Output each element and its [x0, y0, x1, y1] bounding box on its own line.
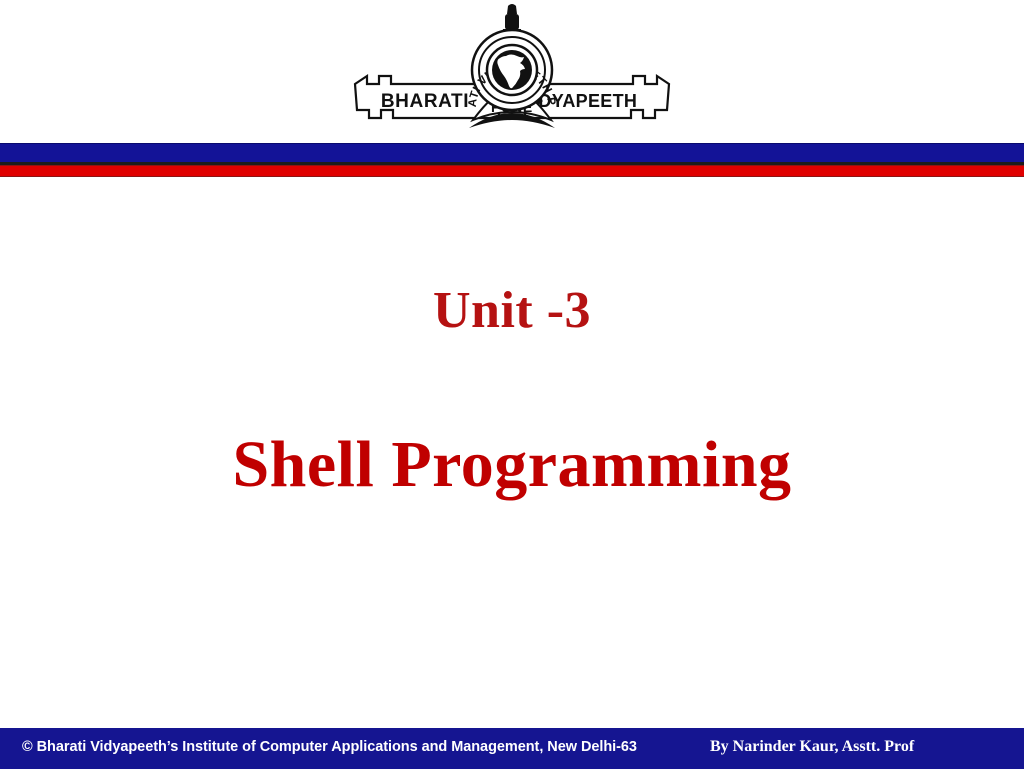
logo-icon: BHARATI VIDYAPEETH PUNE — [347, 2, 677, 136]
unit-title: Unit -3 — [0, 285, 1024, 337]
footer-author-text: By Narinder Kaur, Asstt. Prof — [710, 738, 914, 756]
slide-header: BHARATI VIDYAPEETH PUNE — [0, 0, 1024, 140]
india-map-icon — [487, 45, 537, 95]
main-title: Shell Programming — [0, 432, 1024, 498]
left-banner-text: BHARATI — [381, 91, 469, 112]
slide-body: Unit -3 Shell Programming — [0, 180, 1024, 720]
footer-copyright-text: © Bharati Vidyapeeth’s Institute of Comp… — [22, 739, 637, 755]
header-stripe-navy — [0, 143, 1024, 163]
bharati-vidyapeeth-logo: BHARATI VIDYAPEETH PUNE — [347, 2, 677, 136]
slide-footer: © Bharati Vidyapeeth’s Institute of Comp… — [0, 727, 1024, 769]
presentation-slide: BHARATI VIDYAPEETH PUNE — [0, 0, 1024, 768]
header-stripe-red — [0, 165, 1024, 177]
